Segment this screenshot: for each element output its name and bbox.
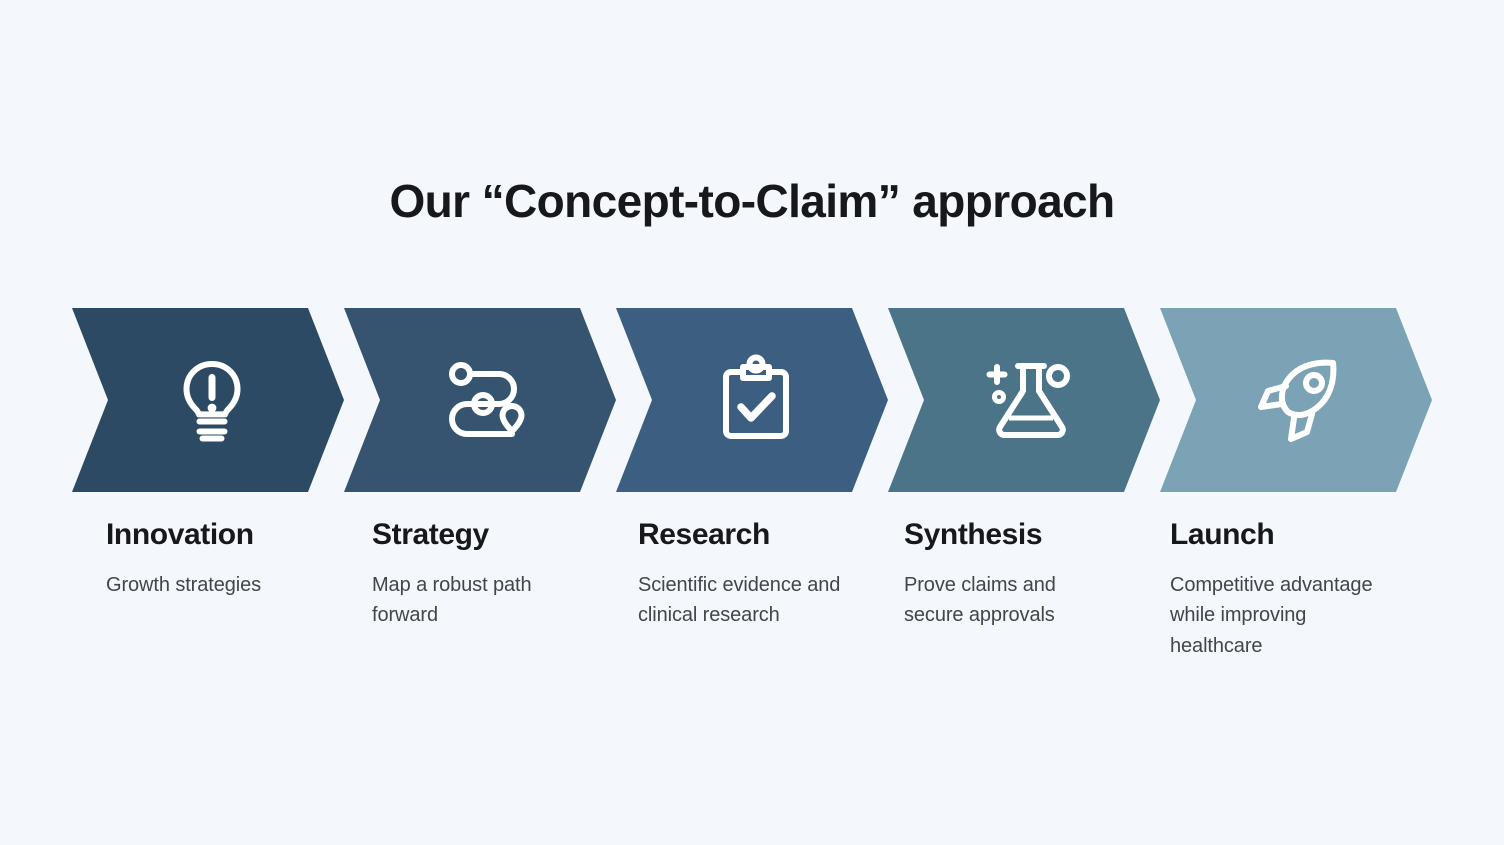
process-chevron-band xyxy=(72,308,1432,492)
step-description: Map a robust path forward xyxy=(372,570,574,631)
chevron-step-launch[interactable] xyxy=(1160,308,1432,492)
chevron-step-strategy[interactable] xyxy=(344,308,616,492)
clipboard-check-icon xyxy=(708,352,804,448)
step-title: Launch xyxy=(1170,518,1378,551)
step-title: Research xyxy=(638,518,842,551)
step-description: Scientific evidence and clinical researc… xyxy=(638,570,842,631)
process-labels-row: Innovation Growth strategies Strategy Ma… xyxy=(72,518,1472,661)
step-description: Prove claims and secure approvals xyxy=(904,570,1110,631)
chevron-step-research[interactable] xyxy=(616,308,888,492)
step-column-strategy: Strategy Map a robust path forward xyxy=(340,518,608,661)
flask-icon xyxy=(980,352,1076,448)
step-description: Growth strategies xyxy=(106,570,306,600)
route-path-pin-icon xyxy=(436,352,532,448)
step-column-synthesis: Synthesis Prove claims and secure approv… xyxy=(876,518,1144,661)
step-column-research: Research Scientific evidence and clinica… xyxy=(608,518,876,661)
rocket-icon xyxy=(1252,352,1348,448)
step-title: Strategy xyxy=(372,518,574,551)
step-column-innovation: Innovation Growth strategies xyxy=(72,518,340,661)
chevron-step-synthesis[interactable] xyxy=(888,308,1160,492)
lightbulb-exclamation-icon xyxy=(164,352,260,448)
page-title: Our “Concept-to-Claim” approach xyxy=(0,175,1504,228)
step-description: Competitive advantage while improving he… xyxy=(1170,570,1378,661)
slide-canvas: Our “Concept-to-Claim” approach xyxy=(0,0,1504,845)
step-title: Synthesis xyxy=(904,518,1110,551)
chevron-step-innovation[interactable] xyxy=(72,308,344,492)
step-title: Innovation xyxy=(106,518,306,551)
step-column-launch: Launch Competitive advantage while impro… xyxy=(1144,518,1412,661)
